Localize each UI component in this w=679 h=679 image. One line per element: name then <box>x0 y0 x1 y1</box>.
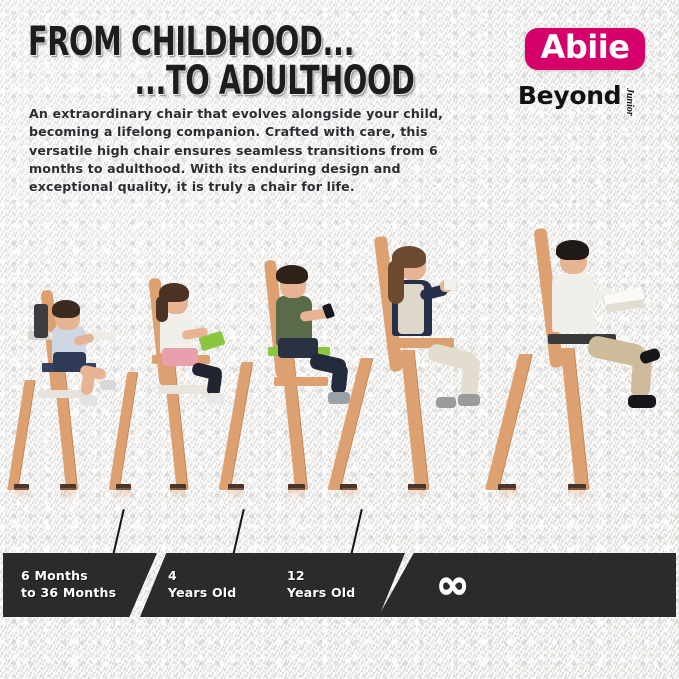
brand-name: Abiie <box>541 31 630 65</box>
infinity-icon: ∞ <box>436 569 469 601</box>
body-paragraph: An extraordinary chair that evolves alon… <box>29 105 479 196</box>
figure-man <box>492 190 677 490</box>
headline-line-2: ...TO ADULTHOOD <box>134 63 510 100</box>
brand-logo: Abiie Beyond Junior <box>505 28 665 108</box>
brand-badge: Abiie <box>525 28 646 70</box>
stage-teen-label: 12Years Old <box>287 568 355 602</box>
headline-line-1: FROM CHILDHOOD... <box>28 24 404 61</box>
stage-infant[interactable]: 6 Monthsto 36 Months <box>3 553 157 617</box>
brand-tagline: Junior <box>624 88 635 116</box>
stage-adult[interactable]: ∞ <box>378 553 676 617</box>
stage-child-label: 4Years Old <box>168 568 236 602</box>
figure-woman <box>336 190 496 490</box>
age-timeline-bar: 6 Monthsto 36 Months 4Years Old 12Years … <box>0 553 679 617</box>
figures-stage <box>0 195 679 515</box>
product-lifestyle-poster: FROM CHILDHOOD... ...TO ADULTHOOD An ext… <box>0 0 679 679</box>
headline-block: FROM CHILDHOOD... ...TO ADULTHOOD <box>28 24 498 100</box>
stage-infant-label: 6 Monthsto 36 Months <box>21 568 116 602</box>
brand-subline: Beyond <box>518 83 621 108</box>
brand-subline-wrap: Beyond Junior <box>505 77 665 108</box>
